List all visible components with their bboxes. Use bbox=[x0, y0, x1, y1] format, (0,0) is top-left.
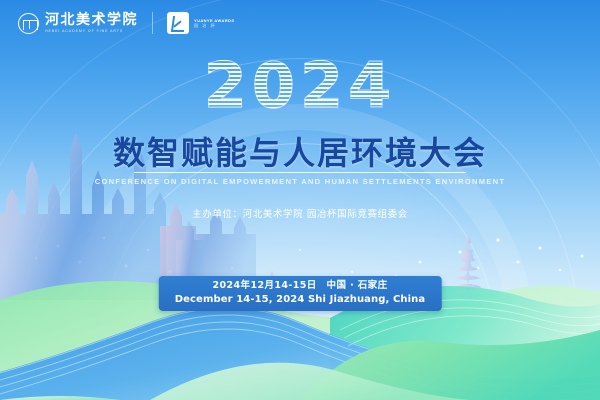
conference-subtitle-group: CONFERENCE ON DIGITAL EMPOWERMENT AND HU… bbox=[0, 172, 600, 186]
logo-hebei-name-en: HEBEI ACADEMY OF FINE ARTS bbox=[45, 30, 138, 34]
conference-title-cn: 数智赋能与人居环境大会 bbox=[0, 128, 600, 174]
year-text: 2024 bbox=[204, 55, 397, 117]
date-location-badge: 2024年12月14-15日 中国 · 石家庄 December 14-15, … bbox=[159, 276, 442, 311]
logo-yuanye-name-cn: 园 冶 杯 bbox=[194, 23, 234, 28]
seal-emblem-icon bbox=[18, 13, 39, 34]
organizer-line: 主办单位：河北美术学院 园冶杯国际竞赛组委会 bbox=[0, 206, 600, 220]
date-line-en: December 14-15, 2024 Shi Jiazhuang, Chin… bbox=[175, 293, 426, 306]
conference-banner: 河北美术学院 HEBEI ACADEMY OF FINE ARTS YUANYE… bbox=[0, 0, 600, 400]
yuanye-mark-icon bbox=[167, 12, 189, 34]
logo-hebei-name-cn: 河北美术学院 bbox=[45, 13, 138, 27]
title-rule-divider bbox=[134, 172, 466, 173]
header-logos: 河北美术学院 HEBEI ACADEMY OF FINE ARTS YUANYE… bbox=[18, 12, 234, 34]
conference-title-en: CONFERENCE ON DIGITAL EMPOWERMENT AND HU… bbox=[0, 177, 600, 186]
logo-hebei-academy[interactable]: 河北美术学院 HEBEI ACADEMY OF FINE ARTS bbox=[18, 13, 138, 34]
date-line-cn: 2024年12月14-15日 中国 · 石家庄 bbox=[175, 280, 426, 293]
logo-divider bbox=[152, 12, 153, 34]
logo-yuanye-awards[interactable]: YUANYE AWARDS 园 冶 杯 bbox=[167, 12, 234, 34]
year-heading: 2024 bbox=[0, 55, 600, 117]
